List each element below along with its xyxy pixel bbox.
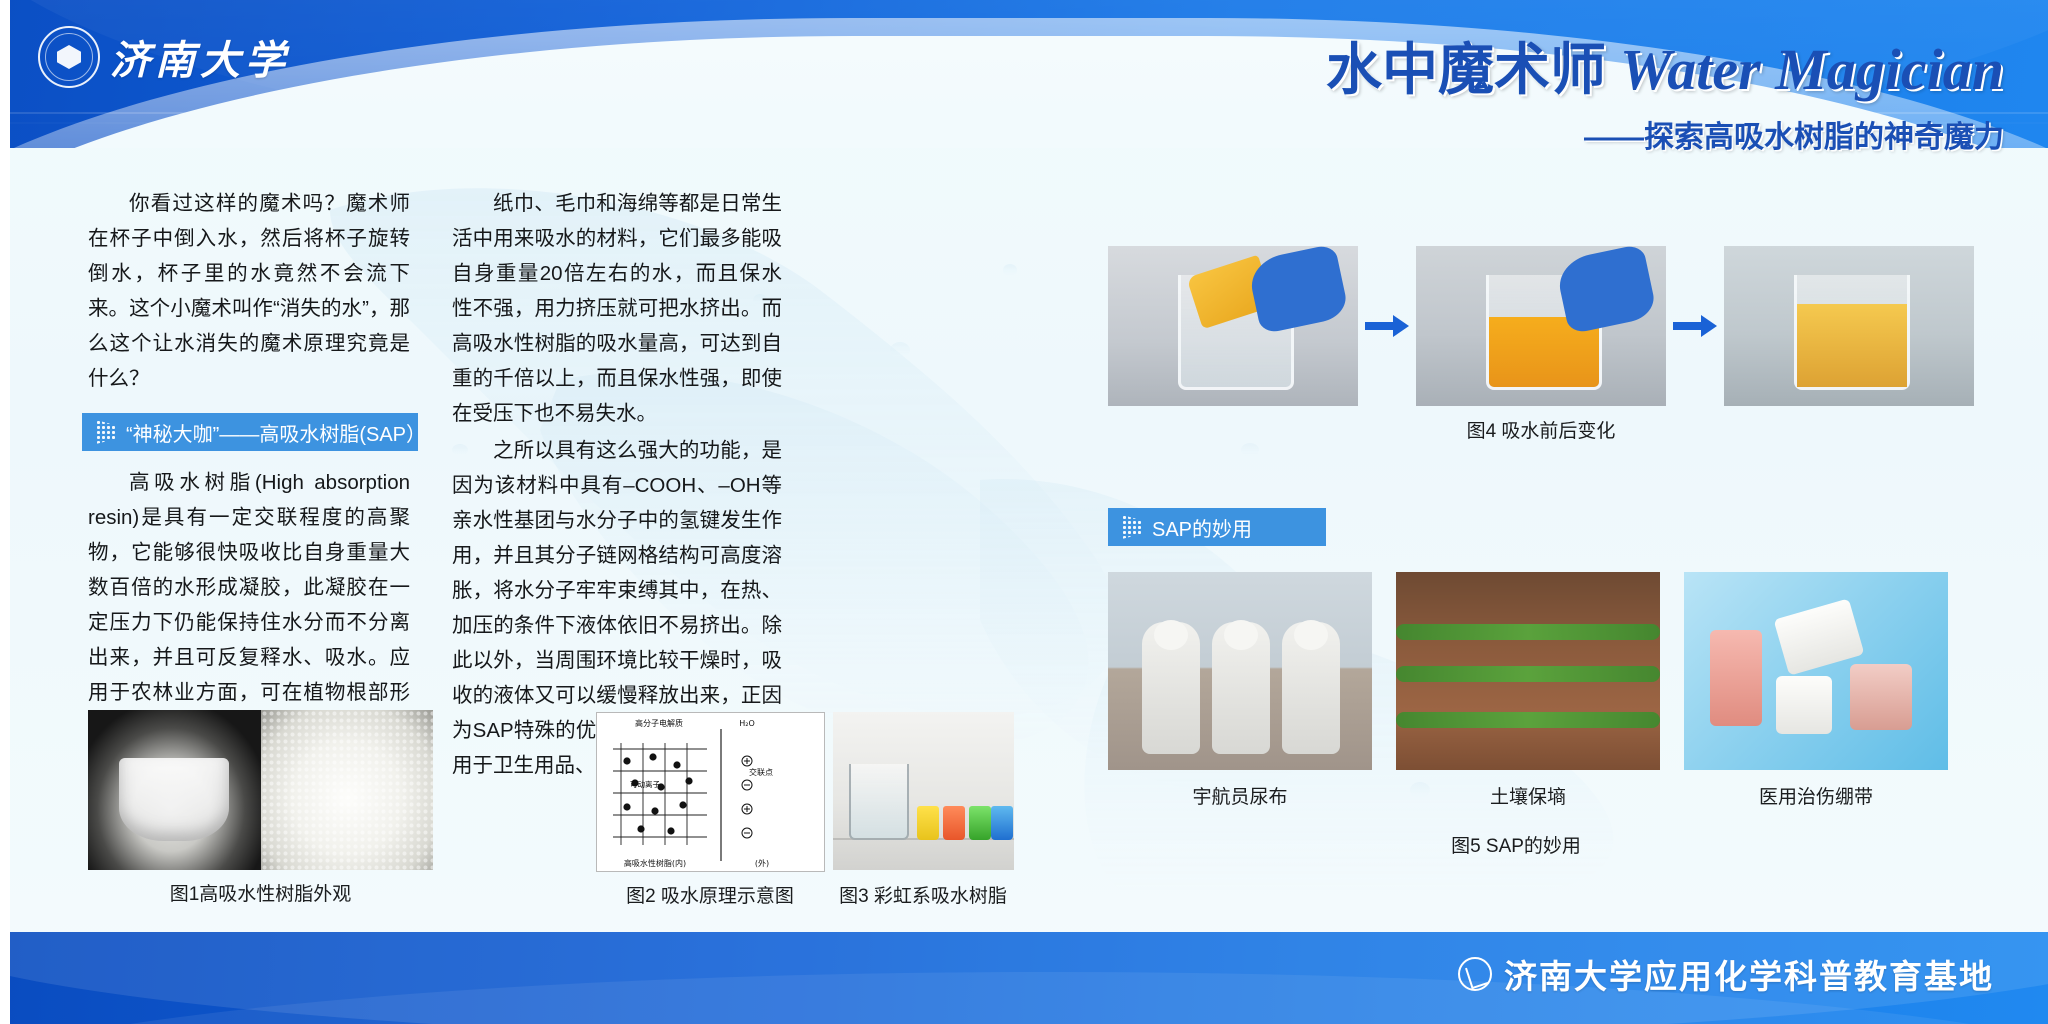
section-header-sap-uses: SAP的妙用 — [1108, 508, 1326, 546]
section-header-sap-intro: “神秘大咖”——高吸水树脂(SAP） — [82, 413, 418, 451]
sap-use-caption-0: 宇航员尿布 — [1108, 782, 1372, 809]
figure-5-caption: 图5 SAP的妙用 — [1108, 831, 1924, 858]
title-en: Water Magician — [1620, 37, 2004, 102]
svg-text:H₂O: H₂O — [739, 719, 755, 728]
arrow-right-icon-2 — [1666, 313, 1724, 339]
sap-use-item-astronaut: 宇航员尿布 — [1108, 572, 1372, 809]
sap-section-label: SAP的妙用 — [1152, 513, 1252, 542]
poster-title-block: 水中魔术师Water Magician ——探索高吸水树脂的神奇魔力 — [1326, 38, 2004, 156]
jinan-university-mark-icon — [1458, 957, 1492, 991]
figure-5: 宇航员尿布 土壤保墒 医用治伤绷带 图5 SAP — [1108, 572, 1948, 858]
paragraph-absorbent-materials: 纸巾、毛巾和海绵等都是日常生活中用来吸水的材料，它们最多能吸自身重量20倍左右的… — [452, 186, 782, 431]
figure-2-image: 高分子电解质 H₂O 可动离子 交联点 高吸水性树脂(内) (外) — [596, 712, 825, 872]
dot-grid-icon — [96, 420, 116, 444]
svg-text:(外): (外) — [755, 858, 769, 868]
footer-banner: 济南大学应用化学科普教育基地 — [0, 932, 2048, 1024]
university-logo: 济南大学 — [38, 26, 290, 88]
figure-1: 图1高吸水性树脂外观 — [88, 710, 433, 906]
sap-use-caption-2: 医用治伤绷带 — [1684, 782, 1948, 809]
figure-1-caption: 图1高吸水性树脂外观 — [88, 879, 433, 906]
figure-4: 图4 吸水前后变化 — [1108, 246, 1974, 443]
white-powder-photo — [261, 710, 434, 870]
sap-use-item-soil: 土壤保墒 — [1396, 572, 1660, 809]
medical-bandage-photo — [1684, 572, 1948, 770]
sap-use-item-bandage: 医用治伤绷带 — [1684, 572, 1948, 809]
left-margin-strip — [0, 0, 10, 1024]
svg-text:可动离子: 可动离子 — [630, 779, 660, 789]
figure-3-image — [833, 712, 1014, 870]
absorption-mechanism-diagram: 高分子电解质 H₂O 可动离子 交联点 高吸水性树脂(内) (外) — [597, 713, 825, 871]
poster-root: 济南大学 水中魔术师Water Magician ——探索高吸水树脂的神奇魔力 … — [0, 0, 2048, 1024]
astronauts-photo — [1108, 572, 1372, 770]
paragraph-intro: 你看过这样的魔术吗？魔术师在杯子中倒入水，然后将杯子旋转倒水，杯子里的水竟然不会… — [88, 186, 410, 396]
figure-4-step-3-image — [1724, 246, 1974, 406]
dot-grid-icon — [1122, 515, 1142, 539]
figure-2-caption: 图2 吸水原理示意图 — [596, 881, 824, 908]
arrow-right-icon-1 — [1358, 313, 1416, 339]
figure-2-3-group: 高分子电解质 H₂O 可动离子 交联点 高吸水性树脂(内) (外) 图2 吸水原… — [596, 712, 1014, 908]
soil-moisture-field-photo — [1396, 572, 1660, 770]
title-cn: 水中魔术师 — [1326, 38, 1606, 101]
svg-text:交联点: 交联点 — [749, 767, 773, 777]
sap-use-caption-1: 土壤保墒 — [1396, 782, 1660, 809]
figure-4-step-2-image — [1416, 246, 1666, 406]
gel-in-beaker-photo — [88, 710, 261, 870]
svg-text:高吸水性树脂(内): 高吸水性树脂(内) — [624, 858, 686, 868]
page-title: 水中魔术师Water Magician — [1326, 38, 2004, 102]
university-seal-icon — [38, 26, 100, 88]
figure-4-caption: 图4 吸水前后变化 — [1108, 416, 1974, 443]
university-name-cn: 济南大学 — [110, 28, 290, 86]
figure-4-step-1-image — [1108, 246, 1358, 406]
text-column-2: 纸巾、毛巾和海绵等都是日常生活中用来吸水的材料，它们最多能吸自身重量20倍左右的… — [452, 186, 782, 785]
figure-3-caption: 图3 彩虹系吸水树脂 — [832, 881, 1014, 908]
section-header-label: “神秘大咖”——高吸水树脂(SAP） — [126, 418, 426, 447]
svg-text:高分子电解质: 高分子电解质 — [635, 718, 683, 728]
figure-1-image — [88, 710, 433, 870]
page-subtitle: ——探索高吸水树脂的神奇魔力 — [1326, 112, 2004, 156]
footer-label: 济南大学应用化学科普教育基地 — [1504, 950, 1994, 998]
